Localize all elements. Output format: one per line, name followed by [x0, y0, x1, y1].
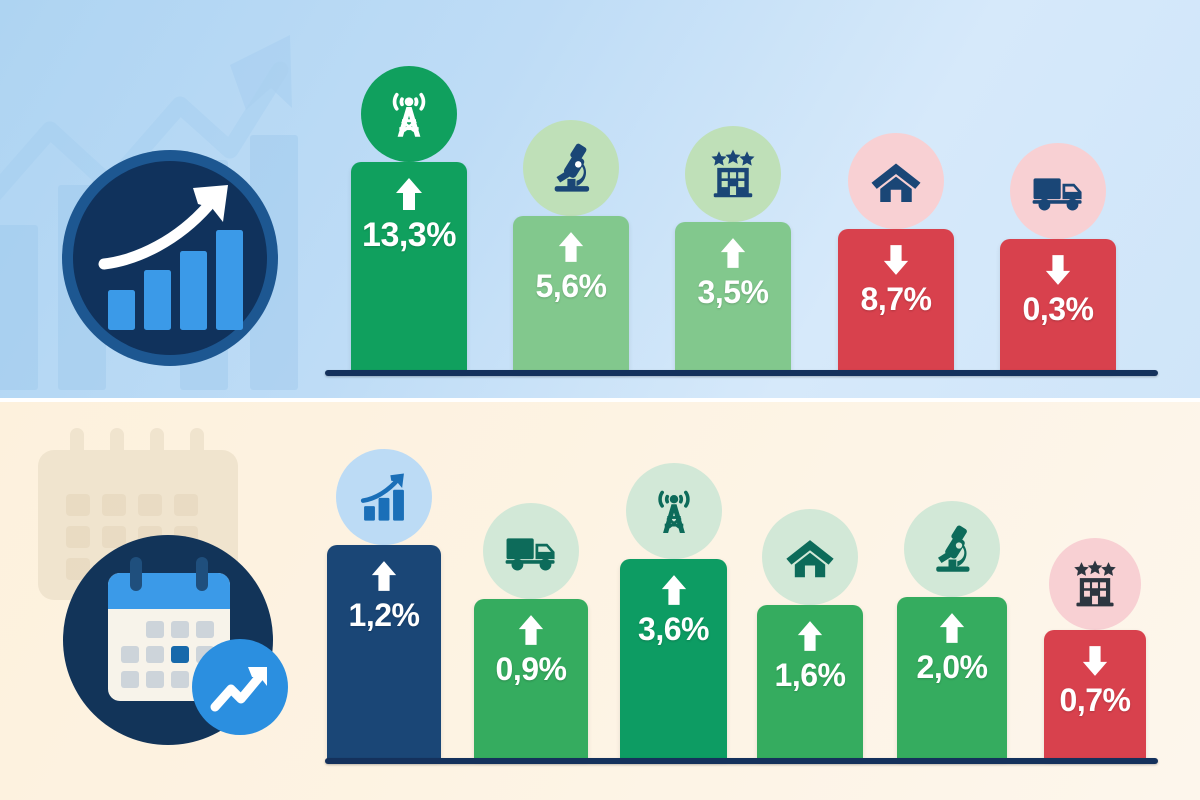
bar-group-truck[interactable]: 0,3%	[1000, 20, 1116, 372]
baseline-axis	[325, 370, 1158, 376]
bar-truck[interactable]: 0,9%	[474, 599, 588, 760]
house-icon	[783, 530, 837, 584]
arrow-up-icon	[394, 176, 424, 212]
bar-group-antenna[interactable]: 13,3%	[351, 20, 467, 372]
bottom-panel: 1,2%	[0, 400, 1200, 800]
bar-value-label: 0,9%	[496, 653, 567, 685]
arrow-up-icon	[719, 236, 747, 270]
hotel-icon-bubble	[685, 126, 781, 222]
bar-value-label: 5,6%	[536, 270, 607, 302]
bar-house[interactable]: 1,6%	[757, 605, 863, 760]
arrow-down-icon	[1081, 644, 1109, 678]
bar-value-label: 8,7%	[861, 283, 932, 315]
hotel-icon-bubble	[1049, 538, 1141, 630]
bar-group-hotel[interactable]: 3,5%	[675, 20, 791, 372]
truck-icon-bubble	[1010, 143, 1106, 239]
bar-group-truck[interactable]: 0,9%	[474, 435, 588, 760]
top-panel: 13,3%	[0, 0, 1200, 400]
bar-group-antenna[interactable]: 3,6%	[620, 435, 727, 760]
truck-icon	[502, 522, 560, 580]
bar-value-label: 2,0%	[917, 651, 988, 683]
bar-group-microscope[interactable]: 5,6%	[513, 20, 629, 372]
antenna-icon-bubble	[626, 463, 722, 559]
bar-microscope[interactable]: 5,6%	[513, 216, 629, 372]
arrow-up-icon	[938, 611, 966, 645]
bar-group-house[interactable]: 8,7%	[838, 20, 954, 372]
baseline-axis	[325, 758, 1158, 764]
bar-microscope[interactable]: 2,0%	[897, 597, 1007, 760]
bar-group-hotel[interactable]: 0,7%	[1044, 435, 1146, 760]
growth-chart-logo	[60, 148, 280, 368]
microscope-icon	[924, 521, 980, 577]
trending-up-badge	[192, 639, 288, 735]
house-icon-bubble	[848, 133, 944, 229]
arrow-up-icon	[370, 559, 398, 593]
bar-value-label: 1,6%	[775, 659, 846, 691]
bar-value-label: 0,3%	[1023, 293, 1094, 325]
bar-chart-metric[interactable]: 1,2%	[327, 545, 441, 760]
bar-hotel[interactable]: 3,5%	[675, 222, 791, 372]
calendar-active-day	[171, 646, 189, 663]
antenna-icon-bubble	[361, 66, 457, 162]
bar-value-label: 1,2%	[349, 599, 420, 631]
arrow-down-icon	[882, 243, 910, 277]
antenna-icon	[381, 86, 437, 142]
infographic-canvas: 13,3%	[0, 0, 1200, 800]
microscope-icon-bubble	[904, 501, 1000, 597]
top-bar-chart: 13,3%	[325, 20, 1160, 372]
arrow-up-icon	[517, 613, 545, 647]
arrow-up-icon	[660, 573, 688, 607]
bar-group-chart[interactable]: 1,2%	[327, 435, 441, 760]
arrow-up-icon	[557, 230, 585, 264]
microscope-icon	[542, 139, 600, 197]
bar-value-label: 13,3%	[362, 218, 456, 252]
bar-house[interactable]: 8,7%	[838, 229, 954, 372]
antenna-icon	[647, 484, 701, 538]
growth-chart-icon-bubble	[336, 449, 432, 545]
house-icon-bubble	[762, 509, 858, 605]
calendar-growth-logo	[55, 525, 305, 765]
bottom-bar-chart: 1,2%	[325, 435, 1160, 760]
panel-divider	[0, 398, 1200, 402]
bar-value-label: 0,7%	[1060, 684, 1131, 716]
bar-value-label: 3,5%	[698, 276, 769, 308]
bar-group-house[interactable]: 1,6%	[757, 435, 863, 760]
truck-icon	[1029, 162, 1087, 220]
house-icon	[868, 153, 924, 209]
bar-value-label: 3,6%	[638, 613, 709, 645]
microscope-icon-bubble	[523, 120, 619, 216]
bar-hotel[interactable]: 0,7%	[1044, 630, 1146, 760]
bar-antenna[interactable]: 13,3%	[351, 162, 467, 372]
growth-chart-icon	[355, 468, 413, 526]
bar-truck[interactable]: 0,3%	[1000, 239, 1116, 372]
hotel-icon	[705, 146, 761, 202]
bar-group-microscope[interactable]: 2,0%	[897, 435, 1007, 760]
hotel-icon	[1068, 557, 1122, 611]
bar-antenna[interactable]: 3,6%	[620, 559, 727, 760]
arrow-down-icon	[1044, 253, 1072, 287]
truck-icon-bubble	[483, 503, 579, 599]
arrow-up-icon	[796, 619, 824, 653]
